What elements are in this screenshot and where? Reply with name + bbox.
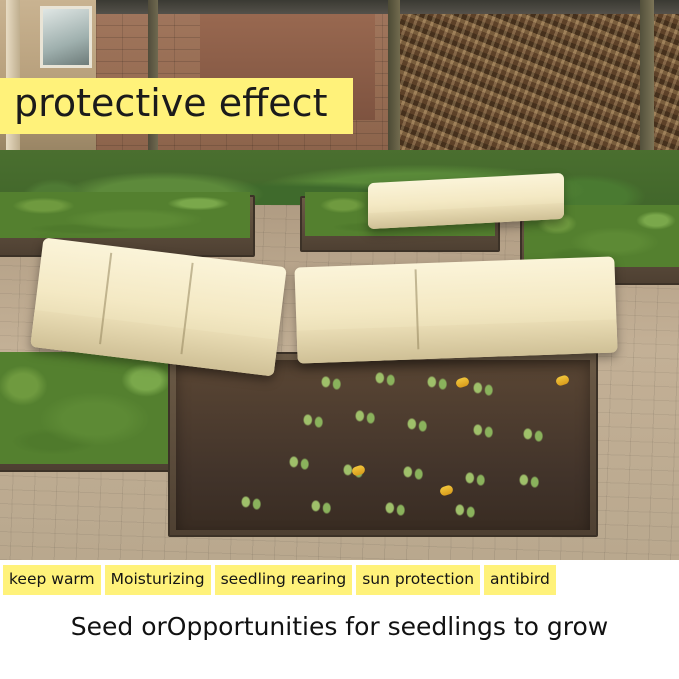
headline-banner: protective effect xyxy=(0,78,353,134)
footer-caption-text: Seed orOpportunities for seedlings to gr… xyxy=(71,612,609,641)
seedling xyxy=(372,368,398,390)
seedling xyxy=(520,424,546,446)
seedling xyxy=(238,492,264,514)
seedling xyxy=(352,406,378,428)
seedling xyxy=(286,452,312,474)
seedling xyxy=(424,372,450,394)
feature-tag-antibird: antibird xyxy=(484,565,556,596)
house-window xyxy=(40,6,92,68)
seedling xyxy=(382,498,408,520)
foliage-left-front xyxy=(0,352,187,464)
seedling xyxy=(300,410,326,432)
seedling xyxy=(462,468,488,490)
seedling xyxy=(308,496,334,518)
feature-tag-moisturizing: Moisturizing xyxy=(105,565,211,596)
feature-tag-sun-protection: sun protection xyxy=(356,565,480,596)
seedling xyxy=(470,420,496,442)
seedling xyxy=(318,372,344,394)
footer-caption-bar: Seed orOpportunities for seedlings to gr… xyxy=(0,598,679,679)
feature-tag-keep-warm: keep warm xyxy=(3,565,101,596)
seedling xyxy=(400,462,426,484)
headline-text: protective effect xyxy=(14,84,327,124)
shed-roof xyxy=(0,0,679,14)
seedling xyxy=(516,470,542,492)
product-image: protective effect keep warm Moisturizing… xyxy=(0,0,679,679)
plant-cover-right xyxy=(294,256,617,363)
feature-tag-seedling-rearing: seedling rearing xyxy=(215,565,353,596)
foliage-left-back xyxy=(0,192,250,238)
seedling xyxy=(452,500,478,522)
seedling xyxy=(470,378,496,400)
seedling xyxy=(404,414,430,436)
firewood-stack xyxy=(396,0,679,168)
feature-tag-row: keep warm Moisturizing seedling rearing … xyxy=(0,565,679,595)
garden-photo: protective effect xyxy=(0,0,679,560)
